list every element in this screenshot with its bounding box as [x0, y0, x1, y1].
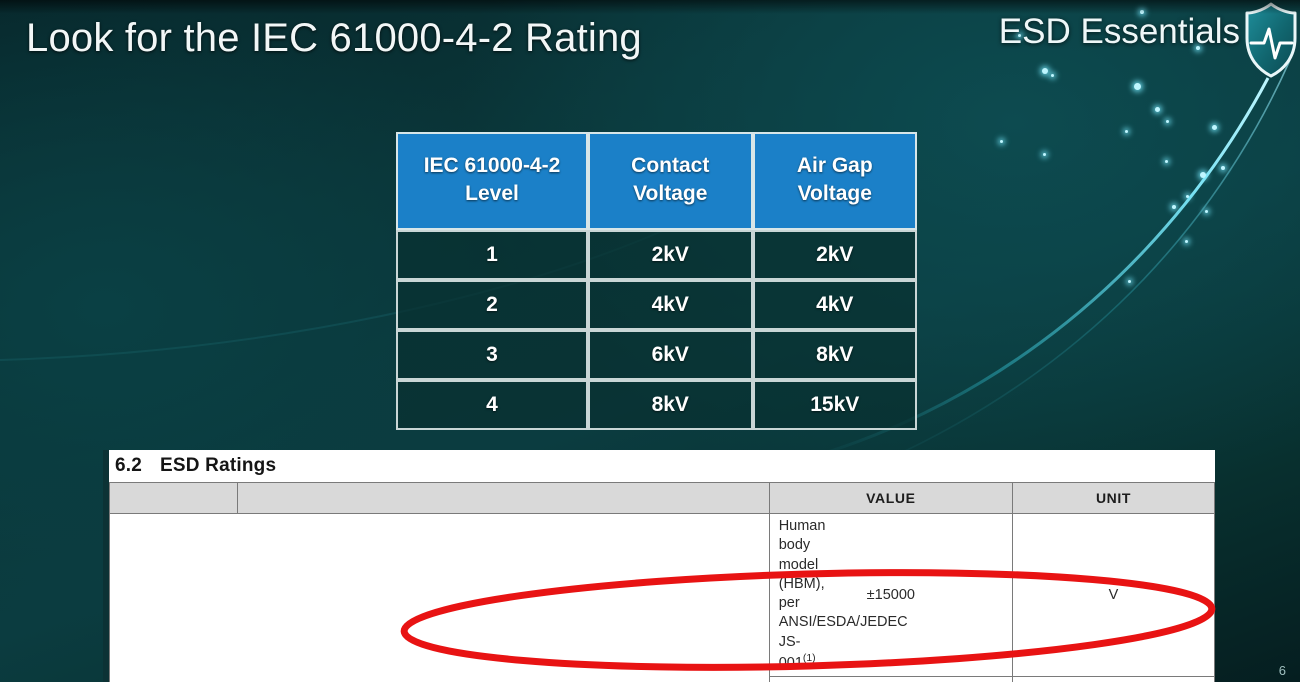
cell-contact-voltage: 4kV [588, 280, 753, 330]
table-row: 2 4kV 4kV [396, 280, 917, 330]
column-header-level: IEC 61000-4-2 Level [396, 132, 588, 230]
sparkle-dot [1155, 107, 1160, 112]
sparkle-dot [1042, 68, 1048, 74]
column-header-symbol [110, 483, 238, 514]
sparkle-dot [1134, 83, 1141, 90]
cell-contact-voltage: 6kV [588, 330, 753, 380]
sparkle-dot [1212, 125, 1217, 130]
cell-air-gap-voltage: 4kV [753, 280, 918, 330]
sparkle-dot [1205, 210, 1208, 213]
iec-level-table: IEC 61000-4-2 Level Contact Voltage Air … [396, 132, 917, 430]
brand-label: ESD Essentials [999, 12, 1240, 52]
sparkle-dot [1128, 280, 1131, 283]
datasheet-section-title: 6.2ESD Ratings [109, 450, 1215, 482]
table-row: 4 8kV 15kV [396, 380, 917, 430]
column-header-parameter [237, 483, 769, 514]
esd-ratings-table: VALUE UNIT V(ESD) Electrostatic discharg… [109, 482, 1215, 682]
column-header-value: VALUE [769, 483, 1012, 514]
column-header-contact-voltage: Contact Voltage [588, 132, 753, 230]
cell-level: 3 [396, 330, 588, 380]
sparkle-dot [1221, 166, 1225, 170]
sparkle-dot [1125, 130, 1128, 133]
table-row: 1 2kV 2kV [396, 230, 917, 280]
page-number: 6 [1279, 663, 1286, 678]
sparkle-dot [1043, 153, 1046, 156]
page-title: Look for the IEC 61000-4-2 Rating [26, 16, 642, 61]
cell-unit: V [1012, 514, 1214, 677]
column-header-air-gap-voltage: Air Gap Voltage [753, 132, 918, 230]
section-title-text: ESD Ratings [160, 455, 276, 476]
cell-air-gap-voltage: 15kV [753, 380, 918, 430]
datasheet-excerpt: 6.2ESD Ratings VALUE UNIT V(ESD) [103, 450, 1215, 682]
table-row: 3 6kV 8kV [396, 330, 917, 380]
footnote-marker: (1) [803, 653, 816, 664]
shield-pulse-icon [1244, 2, 1298, 78]
section-number: 6.2 [115, 455, 142, 476]
cell-parameter: Electrostatic discharge [237, 514, 769, 682]
cell-contact-voltage: 8kV [588, 380, 753, 430]
cell-unit: V [1012, 677, 1214, 682]
cell-level: 2 [396, 280, 588, 330]
cell-level: 4 [396, 380, 588, 430]
cell-air-gap-voltage: 8kV [753, 330, 918, 380]
slide: Look for the IEC 61000-4-2 Rating ESD Es… [0, 0, 1300, 682]
sparkle-dot [1000, 140, 1003, 143]
sparkle-dot [1186, 195, 1189, 198]
column-header-unit: UNIT [1012, 483, 1214, 514]
sparkle-dot [1200, 172, 1206, 178]
table-row: V(ESD) Electrostatic discharge Human bod… [110, 514, 1215, 677]
table-header-row: VALUE UNIT [110, 483, 1215, 514]
sparkle-dot [1185, 240, 1188, 243]
cell-symbol: V(ESD) [110, 514, 238, 682]
sparkle-dot [1172, 205, 1176, 209]
cell-level: 1 [396, 230, 588, 280]
table-header-row: IEC 61000-4-2 Level Contact Voltage Air … [396, 132, 917, 230]
cell-contact-voltage: 2kV [588, 230, 753, 280]
sparkle-dot [1051, 74, 1054, 77]
sparkle-dot [1166, 120, 1169, 123]
sparkle-dot [1165, 160, 1168, 163]
cell-air-gap-voltage: 2kV [753, 230, 918, 280]
